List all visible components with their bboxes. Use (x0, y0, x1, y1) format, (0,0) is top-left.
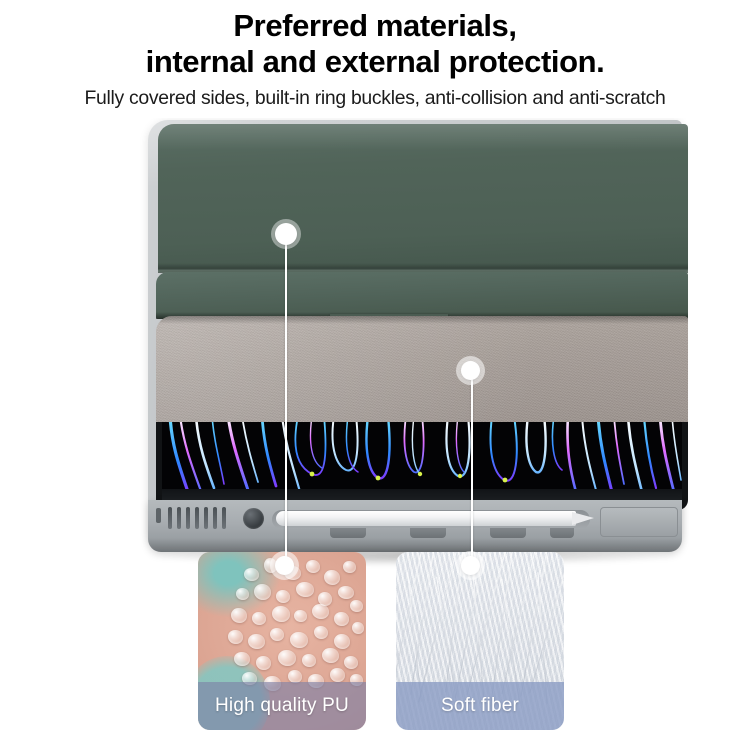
headline-line-2: internal and external protection. (0, 44, 750, 80)
leader-line-cover (285, 242, 287, 568)
page-subtitle: Fully covered sides, built-in ring buckl… (0, 86, 750, 110)
headline-line-1: Preferred materials, (0, 8, 750, 44)
product-feature-page: Preferred materials, internal and extern… (0, 0, 750, 750)
callout-marker-cover[interactable] (275, 223, 297, 245)
ring-buckle (550, 528, 574, 538)
leader-line-lining (471, 376, 473, 568)
side-button-slot (156, 508, 161, 523)
ring-buckle (490, 528, 526, 538)
swatch-caption-pu: High quality PU (198, 682, 366, 730)
folio-cover-panel (158, 124, 688, 272)
folio-cover-fold-segment (156, 272, 688, 319)
page-title: Preferred materials, internal and extern… (0, 8, 750, 80)
apple-pencil (276, 511, 576, 526)
product-photo: High quality PU (0, 118, 750, 750)
microfiber-lining-flap (156, 316, 688, 424)
ring-buckle (330, 528, 366, 538)
swatch-high-quality-pu: High quality PU (198, 552, 366, 730)
ring-buckle (410, 528, 446, 538)
tablet-screen (162, 422, 682, 500)
lining-grain-texture (156, 316, 688, 424)
callout-marker-fiber[interactable] (461, 556, 480, 575)
swatch-soft-fiber: Soft fiber (396, 552, 564, 730)
apple-pencil-tip (572, 512, 594, 525)
speaker-grille-icon (168, 507, 234, 529)
swatch-caption-fiber: Soft fiber (396, 682, 564, 730)
recessed-side-panel (600, 507, 678, 537)
tablet-bezel (156, 422, 688, 510)
screen-bottom-edge (162, 489, 682, 500)
tpu-bottom-bumper (148, 500, 682, 552)
callout-marker-pu[interactable] (275, 556, 294, 575)
camera-cutout-icon (243, 508, 264, 529)
callout-marker-lining[interactable] (461, 361, 480, 380)
